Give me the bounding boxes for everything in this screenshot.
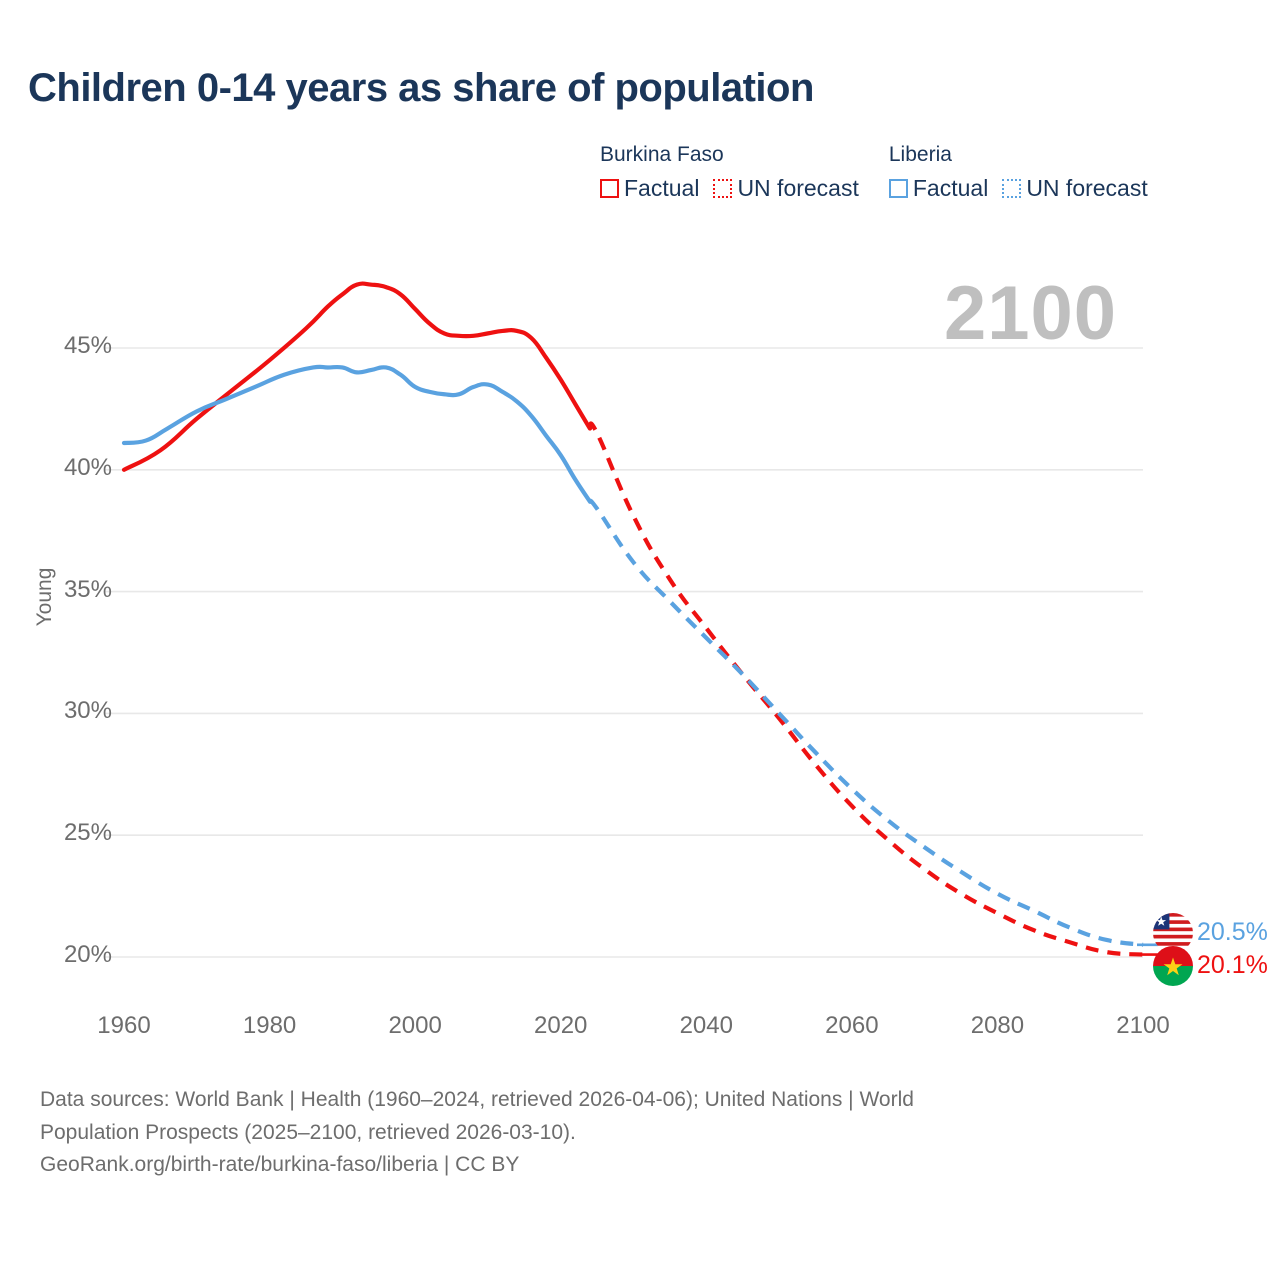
- factual-line: [124, 284, 590, 470]
- x-tick-label: 2040: [680, 1012, 733, 1040]
- footer-sources: Data sources: World Bank | Health (1960–…: [40, 1084, 1200, 1182]
- factual-line: [124, 367, 590, 502]
- forecast-line: [590, 424, 1143, 955]
- y-tick-label: 40%: [64, 454, 112, 482]
- y-tick-label: 20%: [64, 941, 112, 969]
- footer-line: Population Prospects (2025–2100, retriev…: [40, 1117, 1200, 1150]
- x-tick-label: 2100: [1116, 1012, 1169, 1040]
- x-axis-tick-labels: 19601980200020202040206020802100: [0, 1012, 1280, 1052]
- gridlines: [104, 348, 1143, 957]
- end-label-burkina-faso: 20.1%: [1153, 946, 1268, 986]
- forecast-line: [590, 501, 1143, 945]
- x-tick-label: 2000: [388, 1012, 441, 1040]
- footer-line[interactable]: GeoRank.org/birth-rate/burkina-faso/libe…: [40, 1149, 1200, 1182]
- x-tick-label: 1980: [243, 1012, 296, 1040]
- x-tick-label: 2080: [971, 1012, 1024, 1040]
- y-tick-label: 45%: [64, 332, 112, 360]
- end-value-liberia: 20.5%: [1197, 918, 1268, 947]
- y-tick-label: 25%: [64, 819, 112, 847]
- chart-page: Children 0-14 years as share of populati…: [0, 0, 1280, 1280]
- end-value-burkina-faso: 20.1%: [1197, 951, 1268, 980]
- footer-line: Data sources: World Bank | Health (1960–…: [40, 1084, 1200, 1117]
- y-tick-label: 35%: [64, 576, 112, 604]
- x-tick-label: 1960: [97, 1012, 150, 1040]
- burkina-faso-flag-icon: [1153, 946, 1193, 986]
- series-burkina-faso: [124, 284, 1157, 967]
- series-liberia: [124, 367, 1157, 945]
- x-tick-label: 2020: [534, 1012, 587, 1040]
- x-tick-label: 2060: [825, 1012, 878, 1040]
- y-tick-label: 30%: [64, 697, 112, 725]
- y-axis-title: Young: [33, 547, 57, 647]
